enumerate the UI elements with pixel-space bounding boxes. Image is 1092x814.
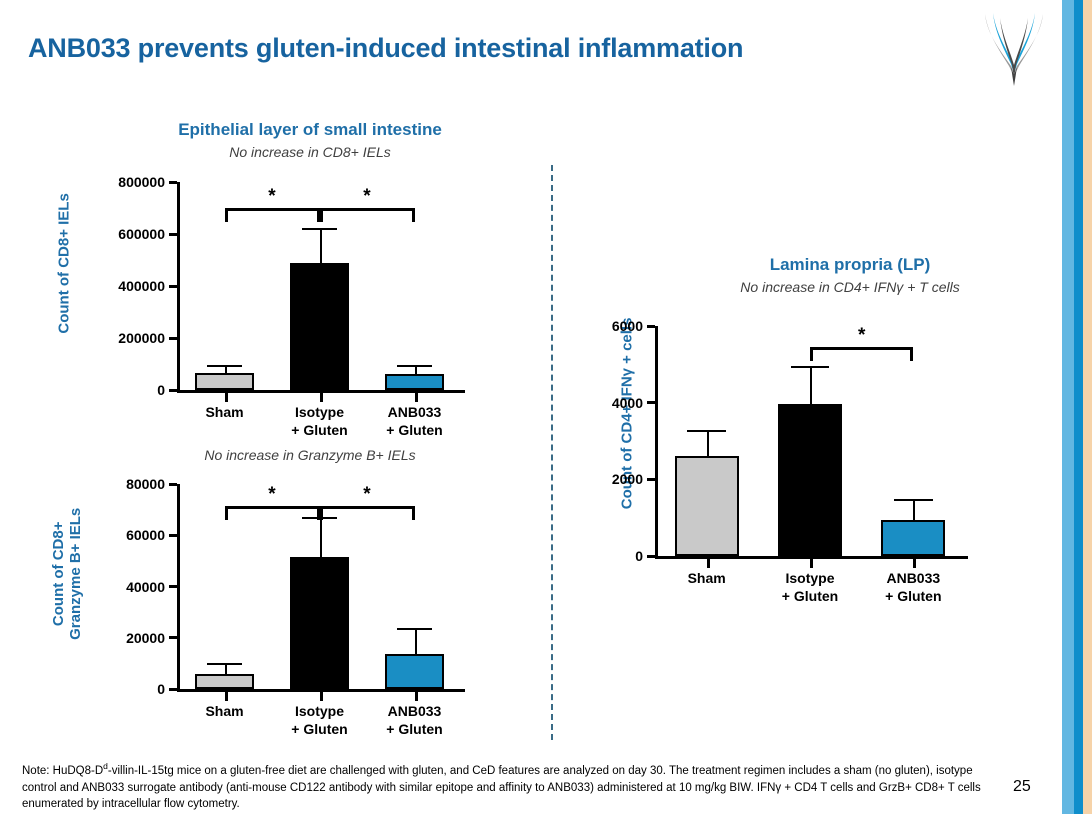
x-tick-mark: [707, 559, 710, 568]
y-tick-label: 6000: [495, 318, 643, 334]
y-tick-label: 80000: [17, 476, 165, 492]
x-tick-mark: [320, 692, 323, 701]
x-tick-mark: [225, 692, 228, 701]
y-tick-mark: [647, 555, 655, 558]
y-tick-label: 40000: [17, 579, 165, 595]
significance-bracket: [225, 506, 320, 520]
x-axis-label-isotype: Isotype+ Gluten: [782, 570, 838, 605]
edge-stripe-tan: [1083, 0, 1092, 814]
edge-stripe-mid: [1074, 0, 1083, 814]
significance-star: *: [268, 187, 275, 206]
x-tick-mark: [320, 393, 323, 402]
error-bar-cap: [791, 366, 829, 368]
column-divider: [551, 165, 553, 740]
bar-anb033: [881, 520, 945, 556]
y-tick-mark: [169, 585, 177, 588]
footnote-text-1: Note: HuDQ8-D: [22, 765, 103, 777]
x-axis-label-sham: Sham: [205, 404, 243, 422]
x-axis-label-anb033: ANB033+ Gluten: [885, 570, 941, 605]
panel-subtitle-granzyme: No increase in Granzyme B+ IELs: [130, 447, 490, 463]
significance-bracket: [320, 506, 415, 520]
bar-anb033: [385, 654, 444, 689]
y-tick-mark: [169, 233, 177, 236]
error-bar-cap: [207, 663, 242, 665]
error-bar-stem: [320, 517, 322, 557]
bar-sham: [675, 456, 739, 556]
y-tick-mark: [169, 534, 177, 537]
y-tick-mark: [647, 401, 655, 404]
chart-cd8-iels: Count of CD8+ IELs 020000040000060000080…: [0, 160, 540, 440]
y-tick-mark: [169, 389, 177, 392]
bar-anb033: [385, 374, 444, 390]
error-bar-cap: [894, 499, 932, 501]
y-tick-mark: [647, 325, 655, 328]
chart-cd4-ifng-t-cells: Count of CD4+ IFNγ + cells 0200040006000…: [575, 300, 1015, 590]
bar-sham: [195, 674, 254, 689]
x-axis-label-isotype: Isotype+ Gluten: [291, 404, 347, 439]
y-tick-mark: [169, 636, 177, 639]
error-bar-stem: [913, 499, 915, 519]
bar-isotype: [778, 404, 842, 556]
x-tick-mark: [415, 393, 418, 402]
y-tick-label: 20000: [17, 630, 165, 646]
x-axis-label-anb033: ANB033+ Gluten: [386, 703, 442, 738]
y-tick-mark: [169, 285, 177, 288]
x-tick-mark: [913, 559, 916, 568]
x-tick-mark: [810, 559, 813, 568]
significance-bracket: [810, 347, 913, 361]
significance-star: *: [363, 187, 370, 206]
y-tick-mark: [169, 181, 177, 184]
error-bar-cap: [397, 628, 432, 630]
y-tick-mark: [647, 478, 655, 481]
anaptys-v-logo-icon: [978, 4, 1050, 90]
error-bar-cap: [207, 365, 242, 367]
x-tick-mark: [415, 692, 418, 701]
y-tick-label: 800000: [17, 174, 165, 190]
error-bar-stem: [415, 628, 417, 655]
significance-star: *: [268, 485, 275, 504]
y-tick-label: 0: [495, 548, 643, 564]
error-bar-stem: [707, 430, 709, 455]
error-bar-stem: [320, 228, 322, 264]
y-tick-label: 4000: [495, 395, 643, 411]
footnote-text-2: -villin-IL-15tg mice on a gluten-free di…: [22, 765, 981, 810]
bar-sham: [195, 373, 254, 390]
chart-granzyme-b-iels: Count of CD8+Granzyme B+ IELs 0200004000…: [0, 462, 540, 747]
panel-title-epithelial: Epithelial layer of small intestine: [130, 120, 490, 140]
edge-stripe-light: [1062, 0, 1074, 814]
significance-star: *: [858, 326, 865, 345]
y-tick-mark: [169, 483, 177, 486]
y-tick-label: 400000: [17, 278, 165, 294]
significance-star: *: [363, 485, 370, 504]
y-tick-label: 0: [17, 681, 165, 697]
y-tick-label: 600000: [17, 226, 165, 242]
y-tick-label: 60000: [17, 527, 165, 543]
panel-subtitle-cd8: No increase in CD8+ IELs: [130, 144, 490, 160]
significance-bracket: [320, 208, 415, 222]
panel-title-lamina: Lamina propria (LP): [690, 255, 1010, 275]
x-axis-label-sham: Sham: [688, 570, 726, 588]
significance-bracket: [225, 208, 320, 222]
error-bar-cap: [687, 430, 725, 432]
y-tick-label: 200000: [17, 330, 165, 346]
error-bar-stem: [810, 366, 812, 404]
y-tick-label: 2000: [495, 471, 643, 487]
y-tick-label: 0: [17, 382, 165, 398]
page-title: ANB033 prevents gluten-induced intestina…: [28, 33, 743, 64]
footnote: Note: HuDQ8-Dd-villin-IL-15tg mice on a …: [22, 760, 982, 813]
x-tick-mark: [225, 393, 228, 402]
error-bar-cap: [397, 365, 432, 367]
x-axis-label-isotype: Isotype+ Gluten: [291, 703, 347, 738]
error-bar-cap: [302, 228, 337, 230]
bar-isotype: [290, 557, 349, 689]
y-tick-mark: [169, 337, 177, 340]
page-number: 25: [1013, 778, 1031, 796]
x-axis-label-sham: Sham: [205, 703, 243, 721]
panel-subtitle-lamina: No increase in CD4+ IFNγ + T cells: [690, 279, 1010, 295]
bar-isotype: [290, 263, 349, 390]
x-axis-label-anb033: ANB033+ Gluten: [386, 404, 442, 439]
y-tick-mark: [169, 688, 177, 691]
